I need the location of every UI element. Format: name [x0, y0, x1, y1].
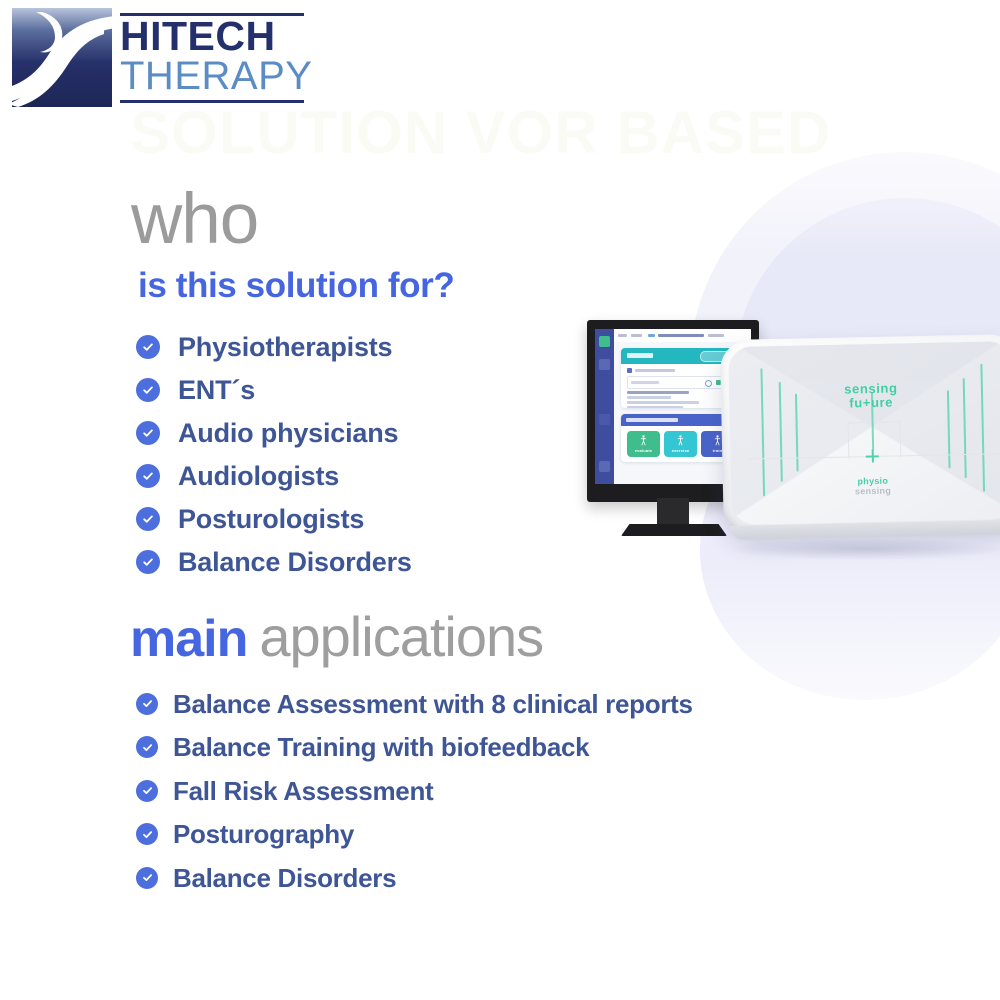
result-row[interactable]: [627, 406, 683, 408]
list-item: Balance Training with biofeedback: [136, 726, 693, 770]
check-circle-icon: [136, 867, 158, 889]
train-button-label: train: [713, 448, 723, 453]
person-standing-icon: [714, 435, 721, 446]
list-item-label: Audio physicians: [178, 418, 398, 448]
logo-rule-bottom: [120, 100, 304, 103]
list-item-label: Balance Training with biofeedback: [173, 732, 589, 762]
topbar-chip: [618, 334, 627, 337]
sidebar-icon-home: [599, 336, 610, 347]
person-standing-icon: [677, 435, 684, 446]
search-icon[interactable]: [705, 380, 712, 387]
list-item: Posturography: [136, 813, 693, 857]
swoosh-mark-icon: [12, 8, 112, 107]
monitor-neck: [657, 498, 689, 526]
brand-logo: HITECH THERAPY: [12, 8, 304, 108]
check-circle-icon: [136, 335, 160, 359]
result-row[interactable]: [627, 396, 671, 399]
sidebar-icon-settings: [599, 461, 610, 472]
who-heading-light: who: [131, 183, 258, 257]
list-item-label: Physiotherapists: [178, 332, 392, 362]
board-center-crosshair-icon: [866, 449, 879, 462]
applications-heading: mainapplications: [130, 602, 543, 674]
list-item-label: Balance Assessment with 8 clinical repor…: [173, 689, 693, 719]
topbar-chip: [648, 334, 655, 337]
check-circle-icon: [136, 550, 160, 574]
list-item: Fall Risk Assessment: [136, 769, 693, 813]
list-item-label: Audiologists: [178, 461, 339, 491]
topbar-chip: [708, 334, 724, 337]
app-sidebar: [595, 329, 614, 484]
logo-therapy-text: THERAPY: [120, 55, 304, 97]
exercise-button[interactable]: exercise: [664, 431, 697, 457]
list-item-label: Balance Disorders: [173, 863, 396, 893]
checkbox-row[interactable]: [627, 368, 687, 373]
board-surface: sensing fu+ure physio sensing: [728, 341, 1000, 525]
poster-canvas: SOLUTION VOR BASED HITECH THERAPY: [0, 0, 1000, 1000]
list-item: Audio physicians: [136, 411, 412, 454]
list-item-label: Balance Disorders: [178, 547, 412, 577]
ghost-headline: SOLUTION VOR BASED: [130, 98, 831, 167]
checkbox[interactable]: [627, 368, 632, 373]
list-item-label: ENT´s: [178, 375, 255, 405]
actions-title-placeholder: [626, 418, 678, 422]
check-circle-icon: [136, 464, 160, 488]
exercise-button-label: exercise: [672, 448, 690, 453]
list-item: Balance Assessment with 8 clinical repor…: [136, 682, 693, 726]
who-list: Physiotherapists ENT´s Audio physicians …: [136, 325, 412, 583]
sidebar-icon-patients: [599, 359, 610, 370]
monitor-base: [621, 524, 727, 536]
list-item: Balance Disorders: [136, 540, 412, 583]
list-item: Balance Disorders: [136, 856, 693, 900]
board-brand-top: sensing fu+ure: [729, 379, 1000, 413]
search-input[interactable]: [627, 376, 735, 389]
person-standing-icon: [640, 435, 647, 446]
evaluate-button-label: evaluate: [635, 448, 653, 453]
topbar-chip: [658, 334, 704, 337]
check-circle-icon: [136, 507, 160, 531]
evaluate-button[interactable]: evaluate: [627, 431, 660, 457]
who-heading-bold: is this solution for?: [138, 264, 454, 308]
check-circle-icon: [136, 736, 158, 758]
checkbox-label-placeholder: [635, 369, 675, 372]
logo-wordmark: HITECH THERAPY: [120, 10, 304, 106]
check-circle-icon: [136, 378, 160, 402]
check-circle-icon: [136, 421, 160, 445]
check-circle-icon: [136, 780, 158, 802]
result-row[interactable]: [627, 391, 689, 394]
board-shell: sensing fu+ure physio sensing: [720, 334, 1000, 536]
check-circle-icon: [136, 823, 158, 845]
logo-hitech-text: HITECH: [120, 15, 304, 57]
sidebar-icon-reports: [599, 414, 610, 425]
list-item: ENT´s: [136, 368, 412, 411]
list-item: Physiotherapists: [136, 325, 412, 368]
search-placeholder: [631, 381, 659, 384]
list-item-label: Posturologists: [178, 504, 364, 534]
list-item: Audiologists: [136, 454, 412, 497]
applications-list: Balance Assessment with 8 clinical repor…: [136, 682, 693, 900]
card-title-placeholder: [627, 353, 653, 358]
applications-heading-light: applications: [259, 605, 543, 668]
topbar-chip: [631, 334, 642, 337]
list-item-label: Posturography: [173, 819, 354, 849]
list-item: Posturologists: [136, 497, 412, 540]
check-circle-icon: [136, 693, 158, 715]
applications-heading-bold: main: [130, 610, 247, 668]
list-item-label: Fall Risk Assessment: [173, 776, 433, 806]
result-row[interactable]: [627, 401, 699, 404]
balance-board: sensing fu+ure physio sensing: [720, 334, 1000, 550]
